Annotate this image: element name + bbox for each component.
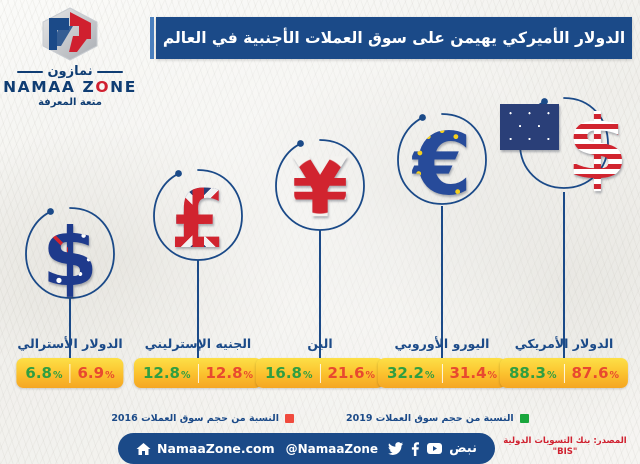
value-2016-gbp: 12.8%	[206, 364, 254, 382]
value-pill-gbp[interactable]: 12.8% 12.8%	[134, 358, 262, 388]
legend-swatch-2019-icon	[520, 414, 529, 423]
pill-divider-jpy	[320, 364, 321, 383]
pill-divider-aud	[70, 364, 71, 383]
legend-label-2016: النسبة من حجم سوق العملات 2016	[111, 413, 279, 424]
logo-rule-group: نمازون	[0, 65, 140, 78]
logo-english-part2: NE	[110, 78, 137, 96]
value-2016-aud: 6.9%	[78, 364, 115, 382]
australian-dollar-flag-icon: $	[42, 218, 98, 298]
british-pound-flag-icon: £	[170, 180, 226, 260]
currency-column-gbp[interactable]: £ الجنيه الإسترليني 12.8% 12.8%	[134, 96, 262, 408]
home-icon	[136, 442, 151, 456]
legend-item-2016[interactable]: النسبة من حجم سوق العملات 2016	[111, 413, 294, 424]
website-url[interactable]: NamaaZone.com	[157, 441, 275, 456]
legend-swatch-2016-icon	[285, 414, 294, 423]
legend-label-2019: النسبة من حجم سوق العملات 2019	[346, 413, 514, 424]
source-attribution: المصدر: بنك التسويات الدولية "BIS"	[496, 436, 634, 459]
value-2019-jpy: 16.8%	[265, 364, 313, 382]
currency-label-eur: اليورو الأوروبي	[378, 336, 506, 351]
logo-arabic-name: نمازون	[47, 65, 92, 78]
logo-rule-right	[17, 71, 43, 73]
currency-column-aud[interactable]: $ الدولار الأسترالي 6.9% 6.8%	[6, 96, 134, 408]
value-pill-usd[interactable]: 87.6% 88.3%	[500, 358, 628, 388]
pill-divider-usd	[564, 364, 565, 383]
currency-label-jpy: الين	[256, 336, 384, 351]
facebook-icon[interactable]	[410, 442, 420, 456]
pill-divider-gbp	[198, 364, 199, 383]
currency-column-usd[interactable]: $ الدولار الأمريكي 87.6% 88.3%	[500, 96, 628, 408]
value-pill-eur[interactable]: 31.4% 32.2%	[378, 358, 506, 388]
social-group: نبض @NamaaZone	[286, 441, 477, 456]
stem-gbp	[197, 260, 199, 373]
currency-column-eur[interactable]: € اليورو الأوروبي 31.4% 32.2%	[378, 96, 506, 408]
twitter-icon[interactable]	[388, 442, 403, 455]
social-handle[interactable]: @NamaaZone	[286, 442, 378, 456]
logo-english-part1: NAMAA Z	[3, 78, 95, 96]
brand-logo[interactable]: نمازون NAMAA ZONE متعة المعرفة	[0, 6, 140, 108]
chart-legend: النسبة من حجم سوق العملات 2019 النسبة من…	[0, 406, 640, 430]
value-2019-gbp: 12.8%	[143, 364, 191, 382]
source-line-1: المصدر: بنك التسويات الدولية	[496, 436, 634, 447]
euro-flag-icon: €	[412, 122, 472, 208]
value-2019-eur: 32.2%	[387, 364, 435, 382]
value-2019-aud: 6.8%	[25, 364, 62, 382]
website-group[interactable]: NamaaZone.com	[136, 441, 275, 456]
title-accent-bar	[150, 17, 154, 59]
youtube-icon[interactable]	[427, 443, 442, 454]
footer: نبض @NamaaZone	[0, 430, 640, 464]
logo-english-o: O	[95, 78, 110, 96]
currency-label-usd: الدولار الأمريكي	[500, 336, 628, 351]
stem-jpy	[319, 230, 321, 373]
logo-rule-left	[97, 71, 123, 73]
value-2016-jpy: 21.6%	[328, 364, 376, 382]
value-pill-aud[interactable]: 6.9% 6.8%	[16, 358, 123, 388]
title-banner: الدولار الأميركي يهيمن على سوق العملات ا…	[156, 17, 632, 59]
value-2016-eur: 31.4%	[450, 364, 498, 382]
logo-english-name: NAMAA ZONE	[0, 80, 140, 96]
japanese-yen-flag-icon: ¥	[291, 148, 348, 230]
namaa-zone-logo-icon	[39, 6, 101, 62]
value-pill-jpy[interactable]: 21.6% 16.8%	[256, 358, 384, 388]
nabd-label[interactable]: نبض	[449, 441, 477, 456]
value-2016-usd: 87.6%	[572, 364, 620, 382]
pill-divider-eur	[442, 364, 443, 383]
currency-label-gbp: الجنيه الإسترليني	[134, 336, 262, 351]
value-2019-usd: 88.3%	[509, 364, 557, 382]
legend-item-2019[interactable]: النسبة من حجم سوق العملات 2019	[346, 413, 529, 424]
us-dollar-flag-icon: $	[500, 104, 628, 192]
currency-column-jpy[interactable]: ¥ الين 21.6% 16.8%	[256, 96, 384, 408]
currency-label-aud: الدولار الأسترالي	[6, 336, 134, 351]
source-line-2: "BIS"	[496, 447, 634, 458]
header: نمازون NAMAA ZONE متعة المعرفة الدولار ا…	[0, 0, 640, 100]
footer-bar: نبض @NamaaZone	[118, 433, 495, 464]
currency-chart: $ الدولار الأسترالي 6.9% 6.8% £ الجنيه ا…	[0, 96, 640, 408]
page-title: الدولار الأميركي يهيمن على سوق العملات ا…	[163, 29, 625, 47]
